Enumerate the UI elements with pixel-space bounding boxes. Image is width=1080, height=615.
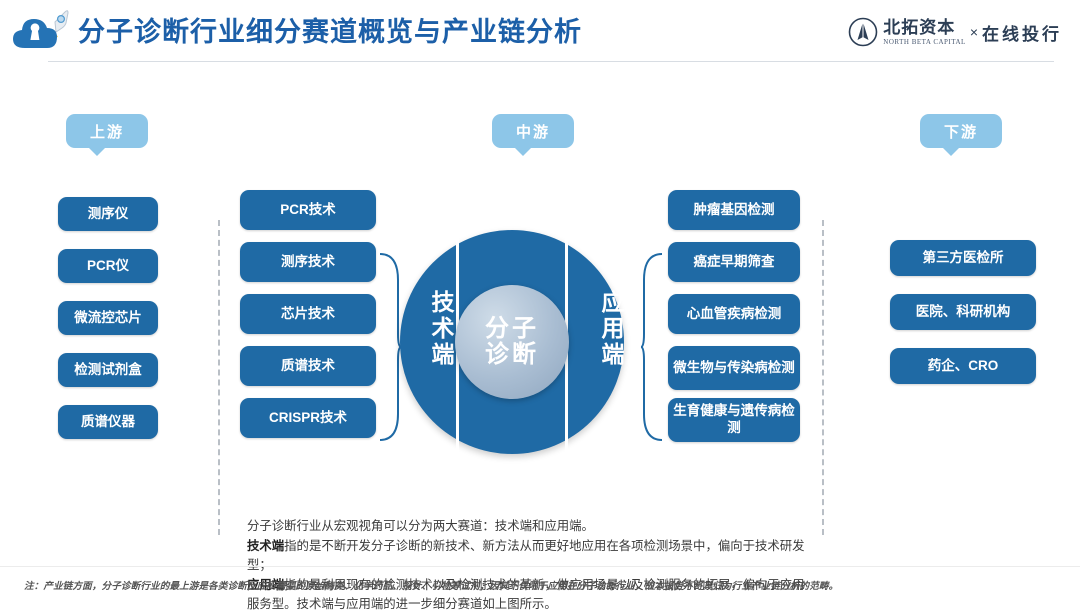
page-header: 分子诊断行业细分赛道概览与产业链分析 北拓资本 NORTH BETA CAPIT… (0, 0, 1080, 62)
tech-item[interactable]: CRISPR技术 (240, 398, 376, 438)
section-label-downstream-text: 下游 (944, 121, 978, 142)
description-line-2-text: 指的是不断开发分子诊断的新技术、新方法从而更好地应用在各项检测场景中，偏向于技术… (247, 539, 805, 573)
tech-item[interactable]: 测序技术 (240, 242, 376, 282)
section-label-upstream: 上游 (66, 114, 148, 148)
section-label-midstream: 中游 (492, 114, 574, 148)
application-item[interactable]: 微生物与传染病检测 (668, 346, 800, 390)
section-label-downstream: 下游 (920, 114, 1002, 148)
logo-partner-name: 在线投行 (982, 20, 1062, 45)
divider-upstream-midstream (218, 220, 220, 535)
footer-divider (0, 566, 1080, 567)
hub-core-line2: 诊断 (485, 341, 539, 368)
downstream-item[interactable]: 药企、CRO (890, 348, 1036, 384)
bubble-tail (88, 147, 106, 156)
logo-separator: × (970, 24, 978, 40)
hub-core: 分子 诊断 (455, 285, 569, 399)
bubble-tail (942, 147, 960, 156)
description-line-2-bold: 技术端 (247, 539, 284, 553)
downstream-item[interactable]: 医院、科研机构 (890, 294, 1036, 330)
tech-item[interactable]: PCR技术 (240, 190, 376, 230)
logo-name-cn: 北拓资本 (883, 19, 966, 36)
hub-label-app: 应用端 (588, 290, 622, 368)
logo-name-en: NORTH BETA CAPITAL (883, 38, 966, 46)
north-beta-capital-logo-icon (848, 17, 878, 47)
page-title: 分子诊断行业细分赛道概览与产业链分析 (78, 10, 582, 49)
section-label-midstream-text: 中游 (516, 121, 550, 142)
application-item[interactable]: 心血管疾病检测 (668, 294, 800, 334)
upstream-item[interactable]: 测序仪 (58, 197, 158, 231)
application-item[interactable]: 生育健康与遗传病检测 (668, 398, 800, 442)
application-item[interactable]: 癌症早期筛查 (668, 242, 800, 282)
description-line-2: 技术端指的是不断开发分子诊断的新技术、新方法从而更好地应用在各项检测场景中，偏向… (247, 537, 807, 576)
hub-core-line1: 分子 (485, 315, 539, 342)
cloud-keyhole-rocket-icon (8, 8, 70, 54)
tech-item[interactable]: 质谱技术 (240, 346, 376, 386)
upstream-item[interactable]: 质谱仪器 (58, 405, 158, 439)
tech-brace-icon (378, 252, 402, 447)
app-brace-icon (640, 252, 664, 447)
application-item[interactable]: 肿瘤基因检测 (668, 190, 800, 230)
divider-midstream-downstream (822, 220, 824, 535)
tech-item[interactable]: 芯片技术 (240, 294, 376, 334)
upstream-item[interactable]: 检测试剂盒 (58, 353, 158, 387)
downstream-item[interactable]: 第三方医检所 (890, 240, 1036, 276)
footnote: 注：产业链方面，分子诊断行业的最上游是各类诊断反应所需要的原始酶类、化学药品、探… (24, 578, 1064, 592)
description-line-1: 分子诊断行业从宏观视角可以分为两大赛道：技术端和应用端。 (247, 517, 807, 537)
company-logo: 北拓资本 NORTH BETA CAPITAL × 在线投行 (848, 14, 1062, 50)
diagram-stage: 上游 中游 下游 测序仪 PCR仪 微流控芯片 检测试剂盒 质谱仪器 PCR技术… (0, 62, 1080, 562)
bubble-tail (514, 147, 532, 156)
hub-label-tech: 技术端 (418, 290, 452, 368)
upstream-item[interactable]: PCR仪 (58, 249, 158, 283)
upstream-item[interactable]: 微流控芯片 (58, 301, 158, 335)
section-label-upstream-text: 上游 (90, 121, 124, 142)
